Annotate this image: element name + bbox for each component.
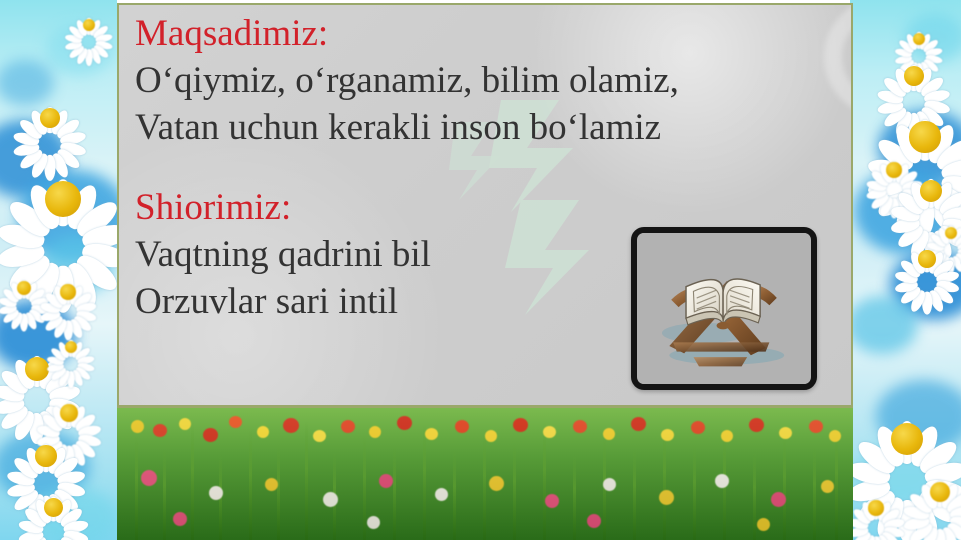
daisy-icon <box>902 162 960 220</box>
daisy-core <box>868 500 883 515</box>
text-block-shiorimiz: Shiorimiz: Vaqtning qadrini bil Orzuvlar… <box>135 185 645 325</box>
daisy-core <box>17 281 31 295</box>
presentation-slide: Maqsadimiz: O‘qiymiz, o‘rganamiz, bilim … <box>0 0 961 540</box>
text-block-maqsadimiz: Maqsadimiz: O‘qiymiz, o‘rganamiz, bilim … <box>135 11 645 151</box>
daisy-icon <box>888 50 940 102</box>
daisy-icon <box>18 428 74 484</box>
daisy-core <box>25 357 49 381</box>
daisy-core <box>60 284 75 299</box>
daisy-core <box>45 181 81 217</box>
right-floral-border <box>850 0 961 540</box>
daisy-core <box>904 66 924 86</box>
paragraph-spacer <box>135 151 645 185</box>
daisy-core <box>44 498 63 517</box>
daisy-icon <box>54 330 88 364</box>
daisy-icon <box>28 482 78 532</box>
shiorimiz-line-1: Vaqtning qadrini bil <box>135 231 645 278</box>
daisy-icon <box>24 92 76 144</box>
daisy-core <box>60 404 77 421</box>
daisy-core <box>920 180 942 202</box>
daisy-icon <box>48 272 88 312</box>
daisy-core <box>35 445 56 466</box>
daisy-core <box>886 162 901 177</box>
daisy-core <box>40 108 60 128</box>
watermark-ring-icon <box>824 3 853 117</box>
daisy-icon <box>6 270 42 306</box>
flower-meadow-image <box>117 408 853 540</box>
daisy-icon <box>904 236 950 282</box>
left-floral-border <box>0 0 117 540</box>
daisy-icon <box>16 152 110 246</box>
daisy-core <box>909 121 940 152</box>
daisy-core <box>918 250 935 267</box>
book-on-rehal-image <box>631 227 817 390</box>
heading-maqsadimiz: Maqsadimiz: <box>135 11 645 57</box>
heading-shiorimiz: Shiorimiz: <box>135 185 645 231</box>
daisy-icon <box>914 466 961 518</box>
daisy-icon <box>856 488 896 528</box>
maqsadimiz-line-1: O‘qiymiz, o‘rganamiz, bilim olamiz, <box>135 57 645 104</box>
daisy-icon <box>72 8 106 42</box>
daisy-core <box>930 482 950 502</box>
content-panel: Maqsadimiz: O‘qiymiz, o‘rganamiz, bilim … <box>117 3 853 408</box>
maqsadimiz-line-2: Vatan uchun kerakli inson bo‘lamiz <box>135 104 645 151</box>
shiorimiz-line-2: Orzuvlar sari intil <box>135 278 645 325</box>
slide-text-column: Maqsadimiz: O‘qiymiz, o‘rganamiz, bilim … <box>135 11 645 325</box>
